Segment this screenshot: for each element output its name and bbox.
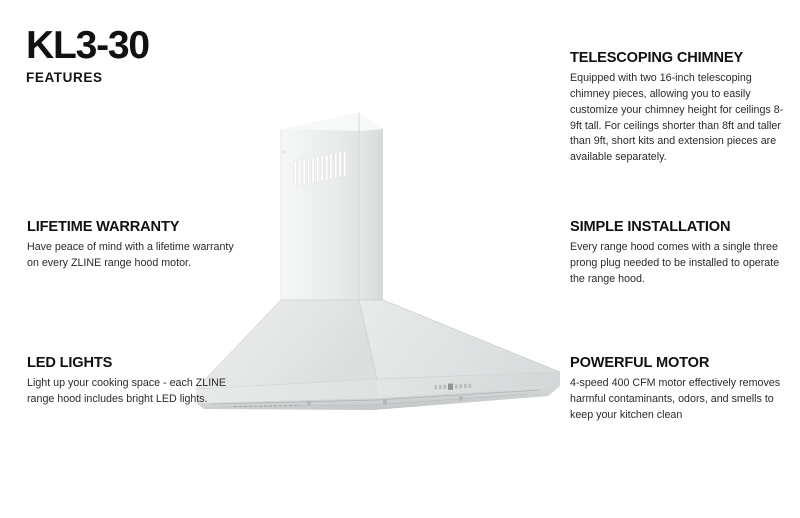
feature-body: Every range hood comes with a single thr… — [570, 240, 794, 287]
feature-lifetime-warranty: LIFETIME WARRANTY Have peace of mind wit… — [27, 219, 242, 272]
feature-simple-installation: SIMPLE INSTALLATION Every range hood com… — [570, 219, 794, 288]
feature-body: Equipped with two 16-inch telescoping ch… — [570, 71, 794, 166]
led-light-strip — [234, 405, 300, 406]
filter-frame-line — [212, 390, 540, 404]
filter-handle-2[interactable] — [383, 399, 387, 404]
control-button-1[interactable] — [435, 385, 438, 389]
title-block: KL3-30 FEATURES — [26, 26, 326, 85]
feature-telescoping-chimney: TELESCOPING CHIMNEY Equipped with two 16… — [570, 50, 794, 166]
filter-handle-1[interactable] — [307, 401, 311, 406]
chimney-vent-slots — [294, 151, 346, 187]
chimney-screw — [284, 151, 286, 153]
feature-heading: LED LIGHTS — [27, 355, 242, 371]
control-panel-buttons[interactable] — [435, 384, 472, 390]
chimney-side-face — [359, 113, 383, 300]
feature-body: Light up your cooking space - each ZLINE… — [27, 376, 242, 408]
baffle-filter-underside — [196, 386, 560, 410]
feature-heading: TELESCOPING CHIMNEY — [570, 50, 794, 66]
control-button-7[interactable] — [469, 384, 472, 388]
feature-heading: LIFETIME WARRANTY — [27, 219, 242, 235]
control-display[interactable] — [448, 384, 453, 390]
chimney-front-face — [281, 113, 359, 300]
page-subtitle: FEATURES — [26, 71, 326, 85]
feature-body: Have peace of mind with a lifetime warra… — [27, 240, 242, 272]
canopy — [196, 300, 560, 389]
control-button-5[interactable] — [460, 384, 463, 388]
control-button-2[interactable] — [439, 385, 442, 389]
feature-heading: SIMPLE INSTALLATION — [570, 219, 794, 235]
filter-handle-3[interactable] — [459, 396, 463, 401]
chimney — [281, 113, 383, 300]
canopy-side-facet — [359, 300, 560, 379]
chimney-top-cap — [281, 113, 383, 131]
canopy-right-ridge — [383, 300, 560, 372]
band-top-edge-right — [377, 372, 560, 379]
feature-powerful-motor: POWERFUL MOTOR 4-speed 400 CFM motor eff… — [570, 355, 794, 424]
feature-led-lights: LED LIGHTS Light up your cooking space -… — [27, 355, 242, 408]
underside-panel — [196, 386, 560, 410]
feature-body: 4-speed 400 CFM motor effectively remove… — [570, 376, 794, 423]
filter-inner-line — [220, 394, 528, 407]
band-right-face — [377, 372, 560, 398]
feature-heading: POWERFUL MOTOR — [570, 355, 794, 371]
control-button-3[interactable] — [444, 385, 447, 389]
front-band — [196, 372, 560, 403]
control-button-4[interactable] — [455, 384, 458, 388]
page-title: KL3-30 — [26, 26, 326, 65]
infographic-page: KL3-30 FEATURES — [0, 0, 800, 518]
canopy-center-ridge — [359, 300, 377, 379]
control-button-6[interactable] — [464, 384, 467, 388]
